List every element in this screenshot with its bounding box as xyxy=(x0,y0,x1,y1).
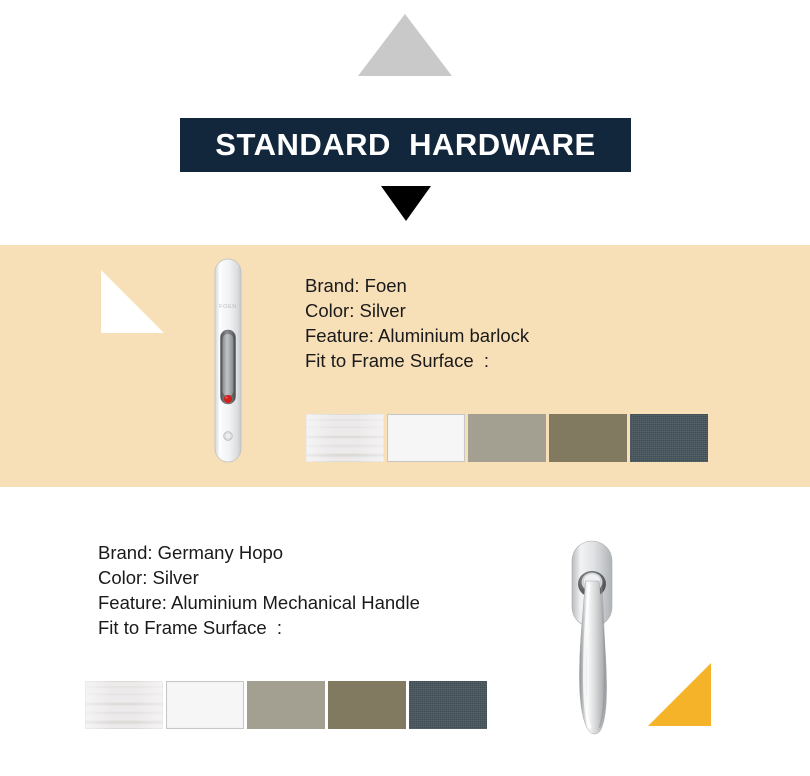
swatch-white-wood-grain[interactable] xyxy=(306,414,384,462)
product-spec-handle: Brand: Germany Hopo Color: Silver Featur… xyxy=(98,540,420,640)
page-title: STANDARD HARDWARE xyxy=(215,127,595,163)
swatch-warm-gray[interactable] xyxy=(468,414,546,462)
swatch-warm-gray[interactable] xyxy=(247,681,325,729)
spec-line-fit: Fit to Frame Surface : xyxy=(98,615,420,640)
swatch-olive-khaki[interactable] xyxy=(549,414,627,462)
spec-line-color: Color: Silver xyxy=(98,565,420,590)
page-title-banner: STANDARD HARDWARE xyxy=(180,118,631,172)
spec-line-brand: Brand: Germany Hopo xyxy=(98,540,420,565)
swatch-dark-slate[interactable] xyxy=(409,681,487,729)
swatch-white-wood-grain[interactable] xyxy=(85,681,163,729)
swatch-olive-khaki[interactable] xyxy=(328,681,406,729)
spec-line-feature: Feature: Aluminium barlock xyxy=(305,323,529,348)
aluminium-mechanical-handle-image xyxy=(556,535,628,740)
swatch-row-barlock xyxy=(306,414,711,462)
triangle-down-icon xyxy=(381,186,431,221)
svg-text:FOEN: FOEN xyxy=(219,304,237,310)
spec-line-fit: Fit to Frame Surface : xyxy=(305,348,529,373)
swatch-plain-white[interactable] xyxy=(166,681,244,729)
swatch-dark-slate[interactable] xyxy=(630,414,708,462)
swatch-row-handle xyxy=(85,681,490,729)
page-header: STANDARD HARDWARE xyxy=(0,0,810,245)
spec-line-color: Color: Silver xyxy=(305,298,529,323)
spec-line-brand: Brand: Foen xyxy=(305,273,529,298)
corner-triangle-white-icon xyxy=(101,270,164,333)
corner-triangle-yellow-icon xyxy=(648,663,711,726)
triangle-up-icon xyxy=(358,14,452,76)
spec-line-feature: Feature: Aluminium Mechanical Handle xyxy=(98,590,420,615)
swatch-plain-white[interactable] xyxy=(387,414,465,462)
product-spec-barlock: Brand: Foen Color: Silver Feature: Alumi… xyxy=(305,273,529,373)
aluminium-barlock-image: FOEN xyxy=(212,258,244,463)
